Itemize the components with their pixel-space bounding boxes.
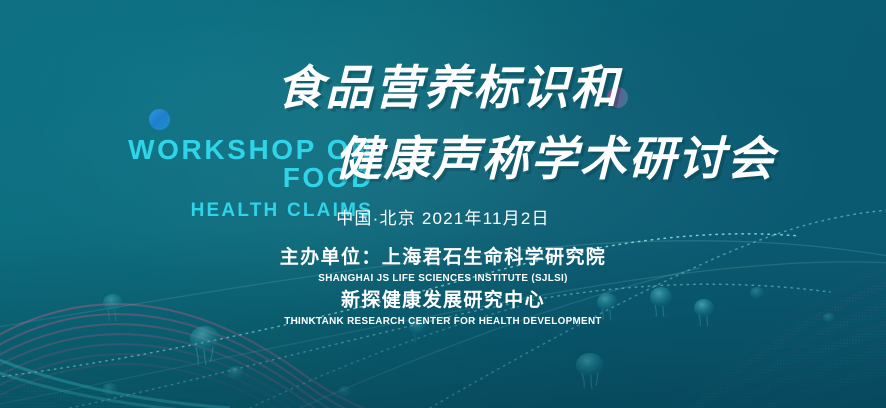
event-location-date: 中国·北京 2021年11月2日	[0, 204, 886, 229]
organizer-secondary-name-en: THINKTANK RESEARCH CENTER FOR HEALTH DEV…	[27, 314, 860, 329]
organizer-primary-name-cn: 主办单位：上海君石生命科学研究院	[0, 246, 886, 270]
organizer-secondary-name-cn: 新探健康发展研究中心	[0, 289, 886, 313]
organizer-primary: 主办单位：上海君石生命科学研究院 SHANGHAI JS LIFE SCIENC…	[0, 246, 886, 286]
event-banner: 食品营养标识和 WORKSHOP ON FOOD HEALTH CLAIMS 健…	[0, 0, 886, 408]
organizer-secondary: 新探健康发展研究中心 THINKTANK RESEARCH CENTER FOR…	[0, 289, 886, 329]
title-chinese-line2: 健康声称学术研讨会	[0, 133, 886, 185]
title-chinese-line1: 食品营养标识和	[0, 62, 886, 114]
banner-content: 食品营养标识和 WORKSHOP ON FOOD HEALTH CLAIMS 健…	[0, 0, 886, 408]
organizer-primary-name-en: SHANGHAI JS LIFE SCIENCES INSTITUTE (SJL…	[27, 271, 860, 286]
